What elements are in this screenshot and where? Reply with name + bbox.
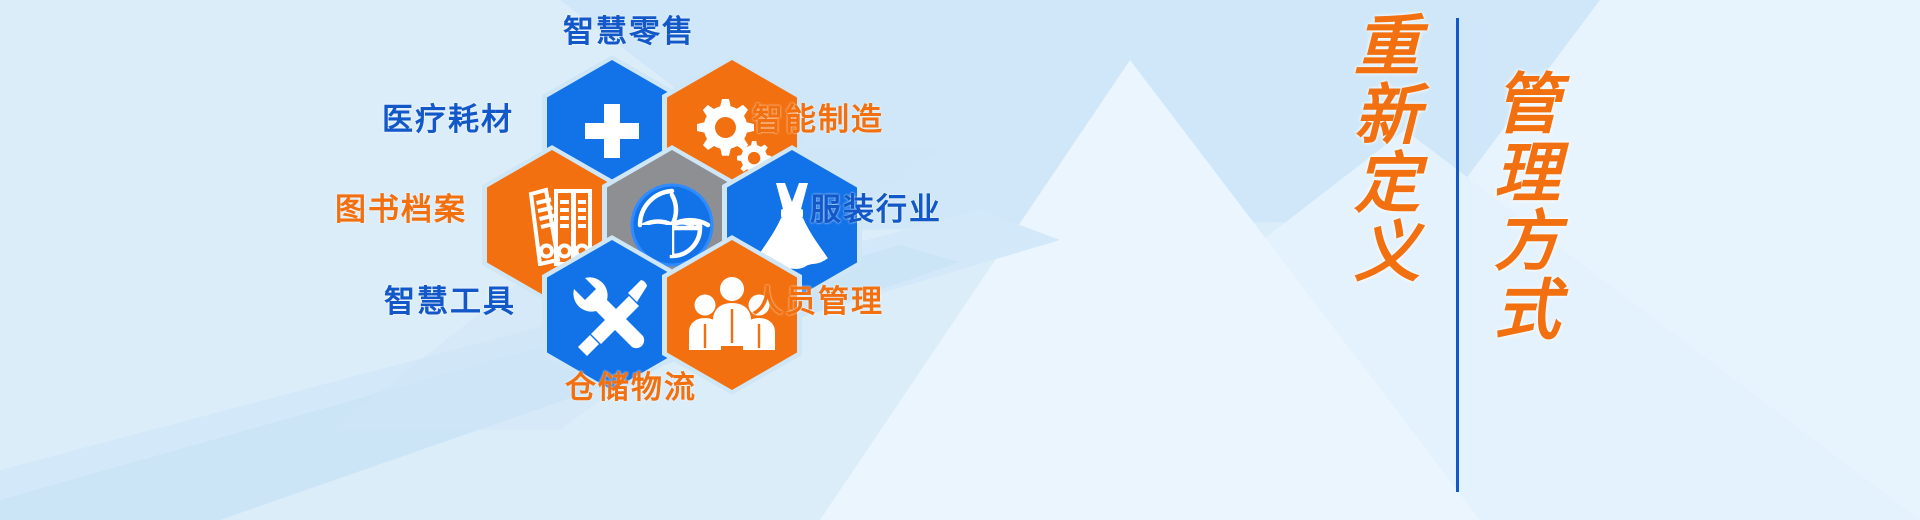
background-shapes-icon [0, 0, 1920, 520]
slogan-right-char-2: 理 [1494, 141, 1560, 210]
slogan-divider [1456, 18, 1459, 492]
slogan-right-column: 管 理 方 式 [1494, 72, 1560, 347]
slogan-right-char-4: 式 [1494, 278, 1560, 347]
wrench-screwdriver-icon [569, 272, 655, 358]
medical-cross-icon [577, 100, 647, 170]
label-warehouse: 仓储物流 [565, 372, 697, 403]
slogan-right-char-1: 管 [1494, 72, 1560, 141]
slogan-block: 重 新 定 义 管 理 方 式 [1290, 0, 1620, 520]
background-decoration [0, 0, 1920, 520]
slogan-right-char-3: 方 [1494, 209, 1560, 278]
label-manufacturing: 智能制造 [752, 104, 884, 135]
label-medical: 医疗耗材 [382, 104, 514, 135]
label-apparel: 服装行业 [810, 194, 942, 225]
slogan-left-column: 重 新 定 义 [1354, 14, 1420, 289]
label-tools: 智慧工具 [384, 286, 516, 317]
label-archives: 图书档案 [335, 194, 467, 225]
label-people: 人员管理 [752, 286, 884, 317]
slogan-left-char-3: 定 [1354, 151, 1420, 220]
slogan-left-char-2: 新 [1354, 83, 1420, 152]
slogan-left-char-1: 重 [1354, 14, 1420, 83]
banner-root: 智慧零售 医疗耗材 智能制造 图书档案 服装行业 智慧工具 人员管理 仓储物流 … [0, 0, 1920, 520]
slogan-left-char-4: 义 [1354, 220, 1420, 289]
label-retail: 智慧零售 [563, 16, 695, 47]
